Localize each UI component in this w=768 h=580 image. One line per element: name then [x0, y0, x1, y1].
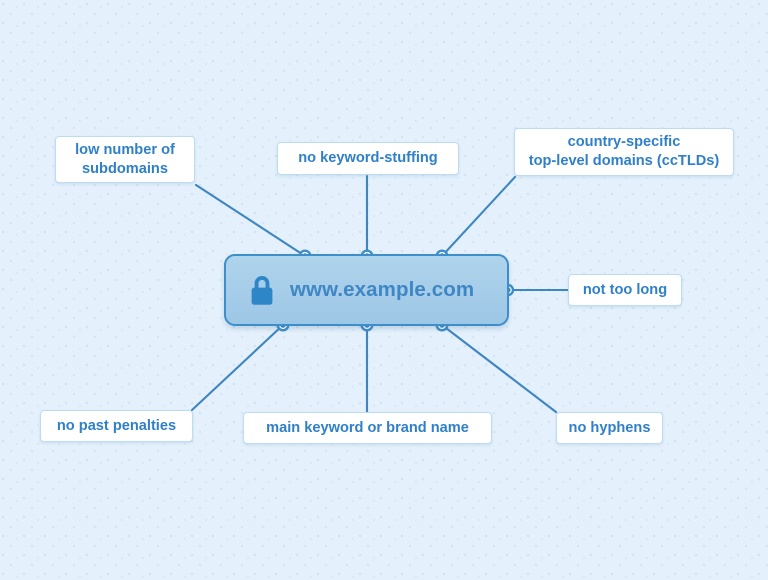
leaf-label-subdomains: low number of subdomains: [75, 141, 175, 179]
connector-no-hyphens: [442, 325, 556, 412]
diagram-canvas: www.example.com low number of subdomains…: [0, 0, 768, 580]
leaf-label-no-hyphens: no hyphens: [569, 419, 651, 438]
leaf-label-not-too-long: not too long: [583, 281, 667, 300]
central-node-domain[interactable]: www.example.com: [224, 254, 509, 326]
lock-icon: [248, 273, 276, 307]
leaf-label-main-keyword: main keyword or brand name: [266, 419, 469, 438]
connector-cctlds: [442, 177, 515, 256]
leaf-node-cctlds[interactable]: country-specific top-level domains (ccTL…: [514, 128, 734, 176]
leaf-node-past-penalties[interactable]: no past penalties: [40, 410, 193, 442]
leaf-node-keyword-stuffing[interactable]: no keyword-stuffing: [277, 142, 459, 175]
leaf-label-cctlds: country-specific top-level domains (ccTL…: [529, 133, 720, 171]
central-node-label: www.example.com: [290, 278, 474, 302]
leaf-node-no-hyphens[interactable]: no hyphens: [556, 412, 663, 444]
leaf-label-past-penalties: no past penalties: [57, 417, 176, 436]
connector-subdomains: [196, 185, 305, 256]
leaf-node-subdomains[interactable]: low number of subdomains: [55, 136, 195, 183]
connector-past-penalties: [192, 325, 283, 410]
leaf-node-not-too-long[interactable]: not too long: [568, 274, 682, 306]
leaf-label-keyword-stuffing: no keyword-stuffing: [298, 149, 437, 168]
leaf-node-main-keyword[interactable]: main keyword or brand name: [243, 412, 492, 444]
